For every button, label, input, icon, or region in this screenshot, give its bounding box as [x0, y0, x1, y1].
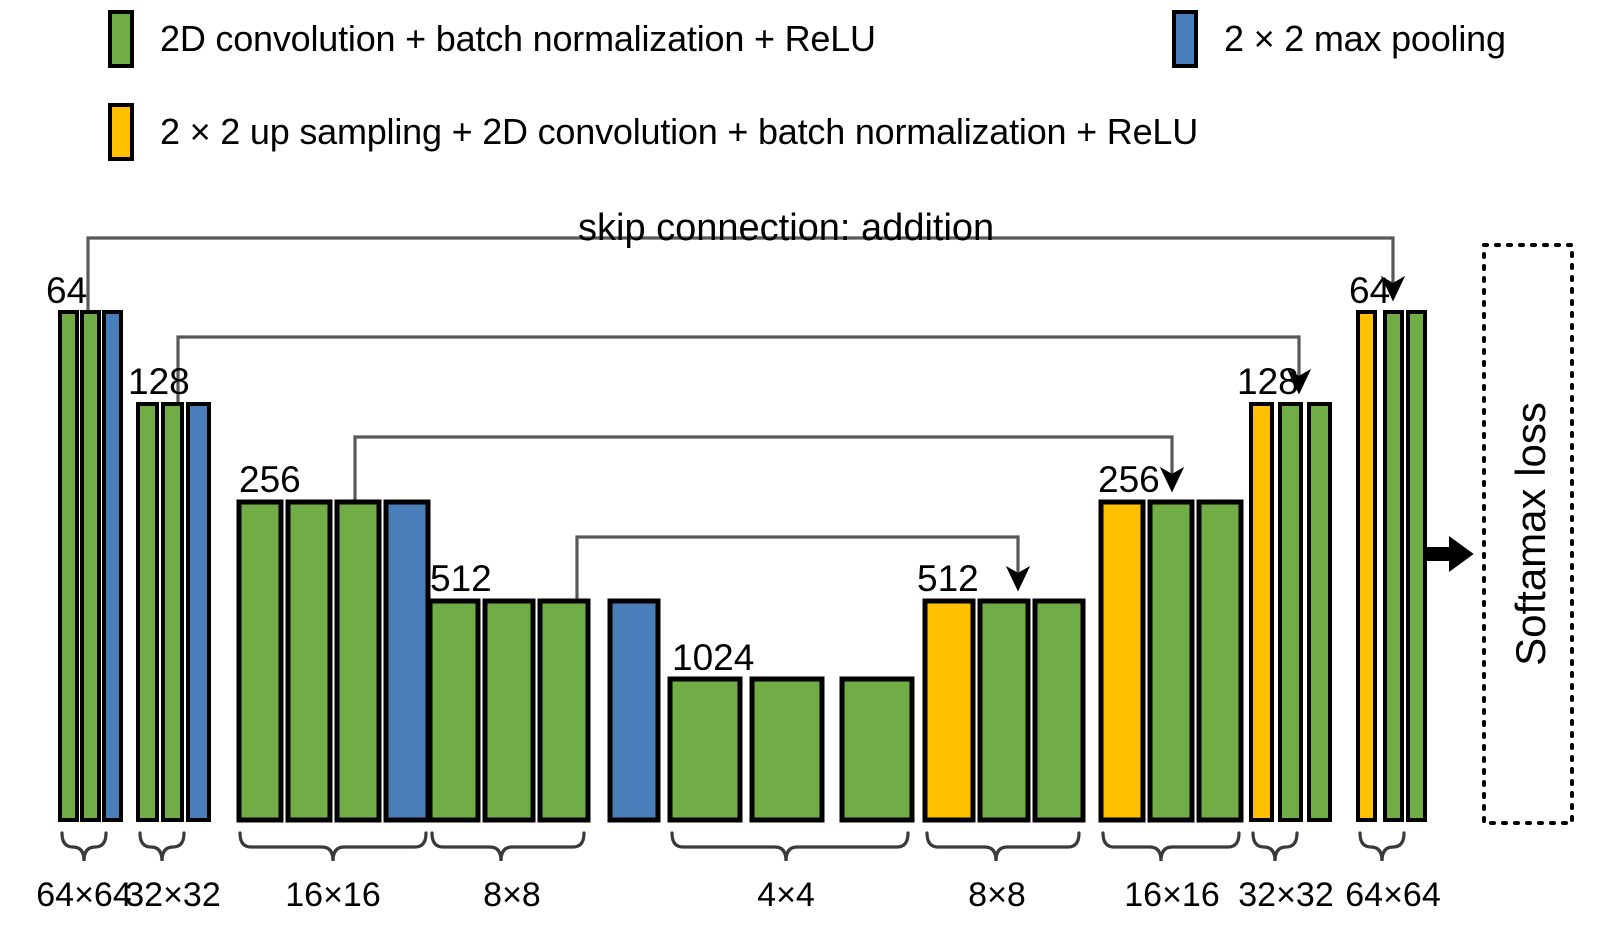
architecture-diagram: skip connection: addition 64 128 256: [0, 0, 1600, 943]
stage-encoder-1: 64: [46, 270, 121, 820]
block-conv: [337, 502, 379, 820]
block-conv: [752, 679, 822, 820]
resolution-label: 64×64: [36, 876, 132, 914]
resolution-label: 16×16: [1124, 876, 1220, 914]
skip-connection-title: skip connection: addition: [578, 207, 994, 249]
block-conv: [670, 679, 740, 820]
block-conv: [1280, 404, 1301, 820]
block-conv: [1309, 404, 1330, 820]
resolution-label: 32×32: [125, 876, 221, 914]
brace: [140, 833, 184, 861]
skip-connection-3: [355, 437, 1172, 501]
block-conv: [485, 601, 533, 820]
channel-label-256-encoder: 256: [239, 459, 301, 500]
block-conv: [1150, 502, 1192, 820]
block-maxpool: [610, 601, 658, 820]
block-conv: [842, 679, 912, 820]
brace: [1360, 833, 1404, 861]
right-arrow-icon: [1428, 538, 1472, 570]
block-conv: [1035, 601, 1083, 820]
resolution-label: 4×4: [757, 876, 815, 914]
block-conv: [1385, 312, 1402, 820]
stage-decoder-3: 256: [1098, 459, 1241, 820]
channel-label-512-encoder: 512: [430, 558, 492, 599]
block-conv: [138, 404, 157, 820]
skip-connection-2: [178, 337, 1299, 403]
brace: [432, 833, 584, 861]
channel-label-64-decoder: 64: [1349, 270, 1390, 311]
output-arrow: [1428, 538, 1472, 570]
stage-decoder-2: 128: [1237, 361, 1330, 820]
block-conv: [430, 601, 478, 820]
brace: [1103, 833, 1239, 861]
block-conv: [288, 502, 330, 820]
resolution-label-group: 64×64 32×32 16×16 8×8 4×4 8×8 16×16 32×3…: [36, 876, 1441, 914]
resolution-label: 64×64: [1345, 876, 1441, 914]
block-conv: [239, 502, 281, 820]
block-conv: [1199, 502, 1241, 820]
stage-decoder-4: 512: [917, 558, 1083, 820]
block-upsample: [925, 601, 973, 820]
channel-label-128-decoder: 128: [1237, 361, 1299, 402]
resolution-label: 8×8: [483, 876, 541, 914]
block-conv: [980, 601, 1028, 820]
resolution-label: 16×16: [285, 876, 381, 914]
block-upsample: [1358, 312, 1375, 820]
channel-label-256-decoder: 256: [1098, 459, 1160, 500]
resolution-brace-group: [62, 833, 1404, 861]
channel-label-512-decoder: 512: [917, 558, 979, 599]
resolution-label: 8×8: [968, 876, 1026, 914]
softmax-loss-box: Softamax loss: [1484, 245, 1572, 823]
block-maxpool: [386, 502, 428, 820]
brace: [62, 833, 106, 861]
block-conv: [82, 312, 99, 820]
block-conv: [163, 404, 182, 820]
figure-root: 2D convolution + batch normalization + R…: [0, 0, 1600, 943]
brace: [240, 833, 426, 861]
channel-label-1024-bottleneck: 1024: [672, 637, 754, 678]
block-conv: [1408, 312, 1425, 820]
block-conv: [60, 312, 77, 820]
softmax-loss-label: Softamax loss: [1507, 402, 1554, 666]
block-conv: [540, 601, 588, 820]
stage-bottleneck: 1024: [670, 637, 912, 820]
block-maxpool: [104, 312, 121, 820]
stage-encoder-2: 128: [128, 361, 209, 820]
channel-label-128-encoder: 128: [128, 361, 190, 402]
brace: [672, 833, 908, 861]
stage-encoder-4: 512: [430, 558, 658, 820]
block-upsample: [1101, 502, 1143, 820]
brace: [1253, 833, 1297, 861]
block-upsample: [1251, 404, 1272, 820]
resolution-label: 32×32: [1238, 876, 1334, 914]
brace: [927, 833, 1079, 861]
stage-decoder-1: 64: [1349, 270, 1425, 820]
block-maxpool: [188, 404, 209, 820]
stage-encoder-3: 256: [239, 459, 428, 820]
channel-label-64-encoder: 64: [46, 270, 87, 311]
